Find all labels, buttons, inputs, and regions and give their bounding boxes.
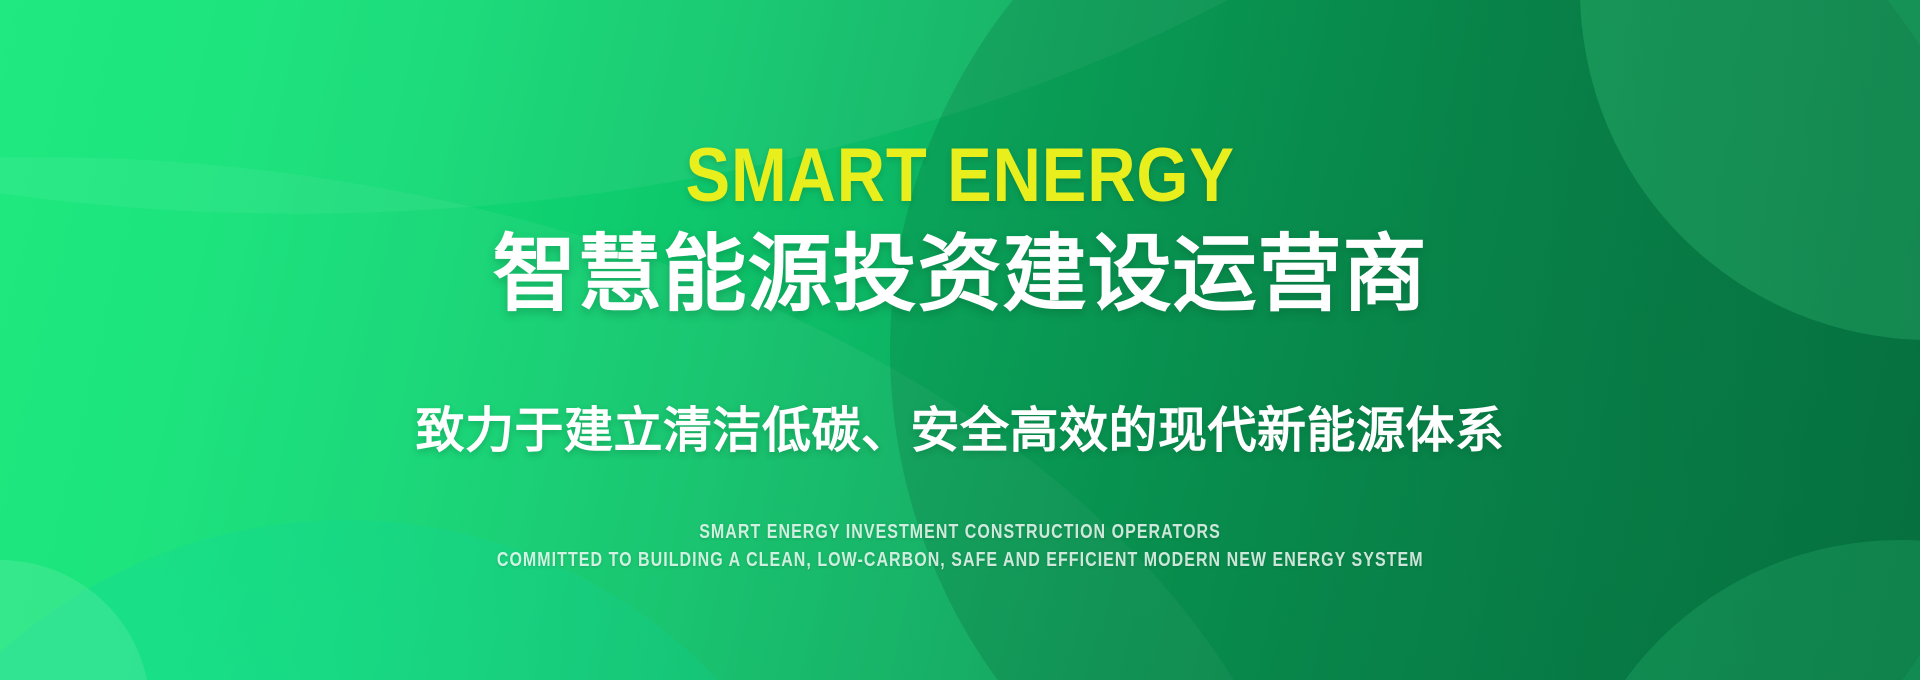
banner-tagline-line-2: COMMITTED TO BUILDING A CLEAN, LOW-CARBO… (497, 549, 1424, 572)
banner-headline-english: SMART ENERGY (685, 138, 1234, 214)
hero-banner: SMART ENERGY 智慧能源投资建设运营商 致力于建立清洁低碳、安全高效的… (0, 0, 1920, 680)
banner-content: SMART ENERGY 智慧能源投资建设运营商 致力于建立清洁低碳、安全高效的… (0, 0, 1920, 680)
banner-subheading-chinese: 致力于建立清洁低碳、安全高效的现代新能源体系 (415, 400, 1504, 462)
banner-headline-chinese: 智慧能源投资建设运营商 (492, 226, 1427, 322)
banner-tagline-group: SMART ENERGY INVESTMENT CONSTRUCTION OPE… (381, 521, 1539, 572)
banner-tagline-line-1: SMART ENERGY INVESTMENT CONSTRUCTION OPE… (699, 521, 1221, 544)
